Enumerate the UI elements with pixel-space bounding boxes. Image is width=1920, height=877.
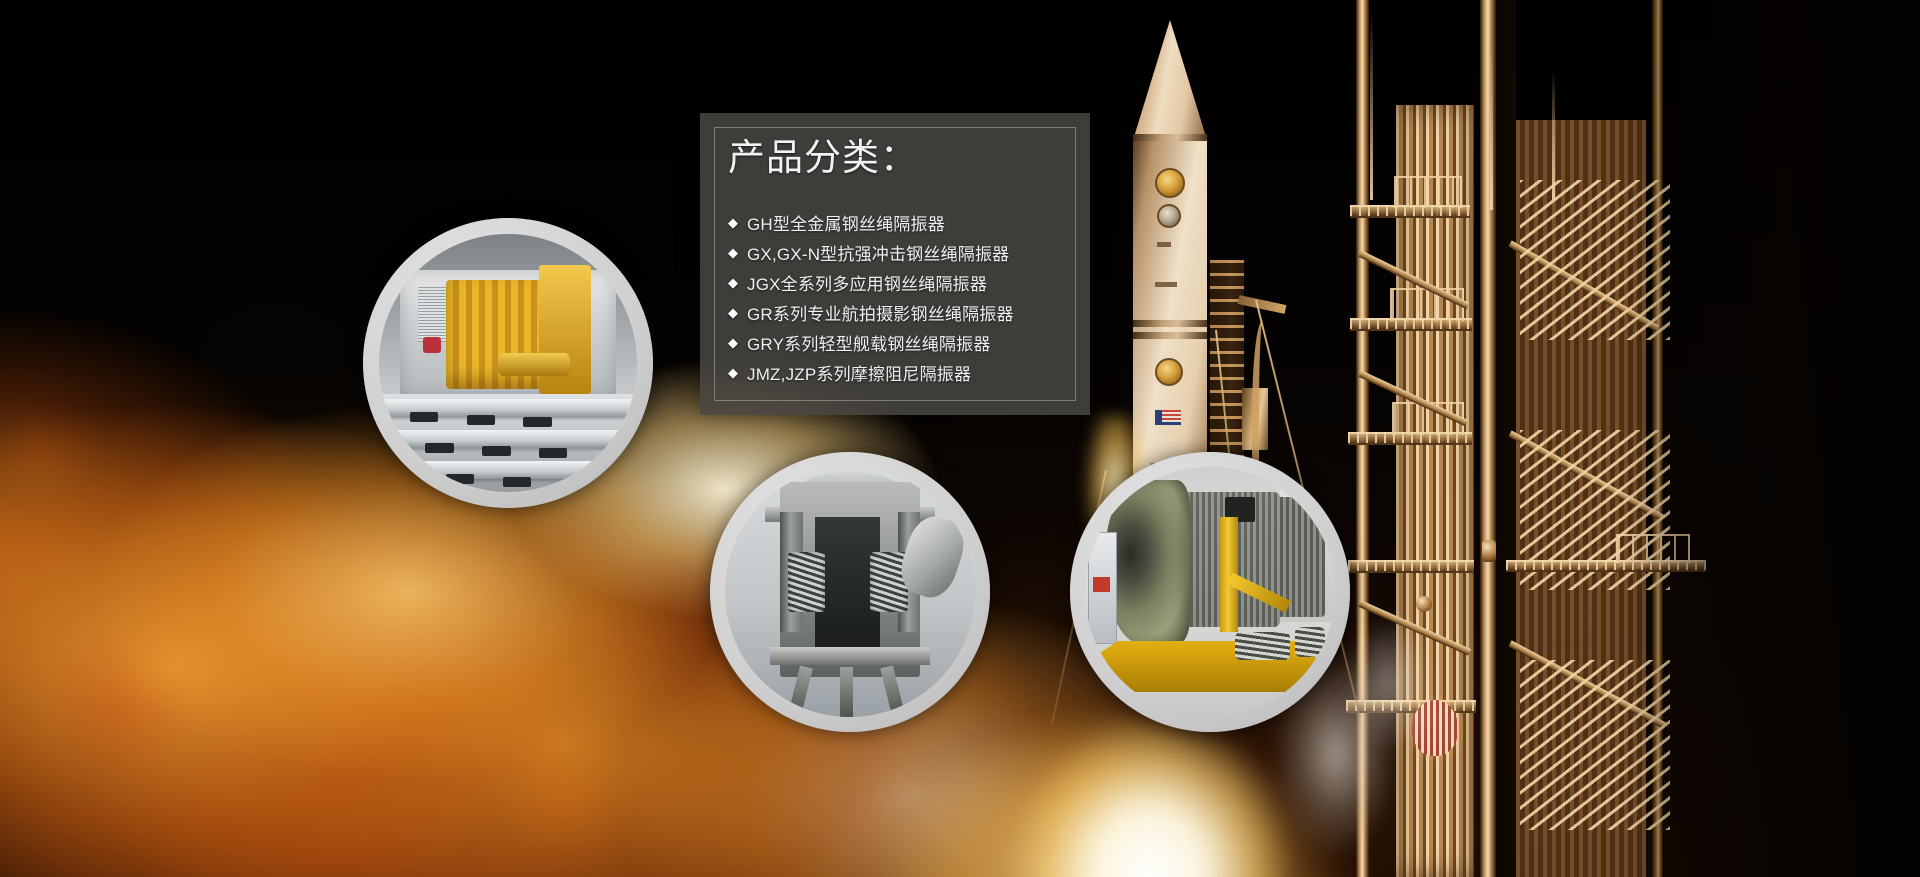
diamond-bullet-icon: ◆ bbox=[728, 336, 747, 349]
hero-banner: Delta bbox=[0, 0, 1920, 877]
list-item-label: GX,GX-N型抗强冲击钢丝绳隔振器 bbox=[747, 240, 1009, 265]
photo-content-1 bbox=[379, 234, 637, 492]
list-item[interactable]: ◆ JMZ,JZP系列摩擦阻尼隔振器 bbox=[728, 357, 1070, 387]
diamond-bullet-icon: ◆ bbox=[728, 306, 747, 319]
rocket-decal-1 bbox=[1157, 242, 1171, 247]
photo-content-2 bbox=[725, 467, 975, 717]
list-item-label: JGX全系列多应用钢丝绳隔振器 bbox=[747, 270, 987, 295]
product-category-list: ◆ GH型全金属钢丝绳隔振器 ◆ GX,GX-N型抗强冲击钢丝绳隔振器 ◆ JG… bbox=[728, 207, 1070, 387]
rocket-mission-patch-1 bbox=[1155, 168, 1185, 198]
tower-antenna-1 bbox=[1370, 10, 1373, 200]
photo-content-3 bbox=[1085, 467, 1335, 717]
list-item-label: GR系列专业航拍摄影钢丝绳隔振器 bbox=[747, 300, 1014, 325]
diamond-bullet-icon: ◆ bbox=[728, 366, 747, 379]
page-title: 产品分类： bbox=[728, 139, 918, 176]
product-photo-wire-rope-isolator[interactable] bbox=[710, 452, 990, 732]
rocket-band-1 bbox=[1133, 134, 1207, 141]
diamond-bullet-icon: ◆ bbox=[728, 246, 747, 259]
diamond-bullet-icon: ◆ bbox=[728, 216, 747, 229]
list-item-label: GRY系列轻型舰载钢丝绳隔振器 bbox=[747, 330, 991, 355]
tower-column-mid bbox=[1480, 0, 1496, 877]
rocket-nose-cone bbox=[1133, 20, 1207, 140]
rocket-mission-patch-2 bbox=[1157, 204, 1181, 228]
tower-railing-1 bbox=[1394, 176, 1462, 208]
list-item[interactable]: ◆ JGX全系列多应用钢丝绳隔振器 bbox=[728, 267, 1070, 297]
diamond-bullet-icon: ◆ bbox=[728, 276, 747, 289]
tower-light-2 bbox=[1482, 540, 1496, 562]
list-item[interactable]: ◆ GH型全金属钢丝绳隔振器 bbox=[728, 207, 1070, 237]
tower-railing-2 bbox=[1390, 288, 1464, 321]
tower-dark-edge bbox=[1620, 0, 1920, 877]
product-photo-turbine-engine[interactable] bbox=[1070, 452, 1350, 732]
list-item[interactable]: ◆ GX,GX-N型抗强冲击钢丝绳隔振器 bbox=[728, 237, 1070, 267]
rocket-decal-2 bbox=[1155, 282, 1177, 287]
list-item-label: GH型全金属钢丝绳隔振器 bbox=[747, 210, 945, 235]
product-category-panel: 产品分类： ◆ GH型全金属钢丝绳隔振器 ◆ GX,GX-N型抗强冲击钢丝绳隔振… bbox=[700, 113, 1090, 415]
product-photo-diesel-generator[interactable] bbox=[363, 218, 653, 508]
list-item[interactable]: ◆ GRY系列轻型舰载钢丝绳隔振器 bbox=[728, 327, 1070, 357]
list-item-label: JMZ,JZP系列摩擦阻尼隔振器 bbox=[747, 360, 971, 385]
tower-antenna-2 bbox=[1490, 40, 1493, 210]
list-item[interactable]: ◆ GR系列专业航拍摄影钢丝绳隔振器 bbox=[728, 297, 1070, 327]
